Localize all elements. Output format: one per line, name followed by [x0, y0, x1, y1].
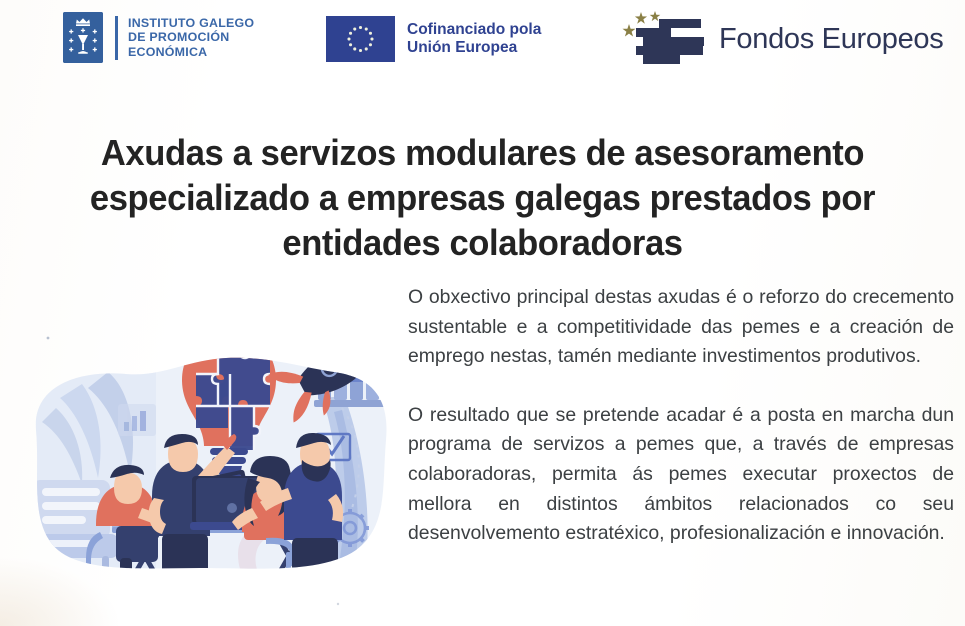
eu-line-2: Unión Europea: [407, 39, 541, 58]
team-collaboration-illustration: [4, 312, 396, 612]
igape-logo: INSTITUTO GALEGO DE PROMOCIÓN ECONÓMICA: [63, 12, 254, 63]
paragraph-2: O resultado que se pretende acadar é a p…: [408, 401, 954, 549]
igape-line-3: ECONÓMICA: [128, 45, 254, 59]
european-union-logo: Cofinanciado pola Unión Europea: [326, 16, 541, 62]
eu-flag-icon: [326, 16, 395, 62]
fondos-europeos-logo: Fondos Europeos: [617, 6, 943, 72]
body-text: O obxectivo principal destas axudas é o …: [408, 283, 954, 549]
igape-divider: [115, 16, 118, 60]
logo-bar: INSTITUTO GALEGO DE PROMOCIÓN ECONÓMICA: [0, 0, 965, 92]
poster-page: INSTITUTO GALEGO DE PROMOCIÓN ECONÓMICA: [0, 0, 965, 626]
page-title: Axudas a servizos modulares de asesorame…: [52, 130, 913, 265]
galicia-coat-of-arms-icon: [63, 12, 103, 63]
fondos-europeos-wordmark: Fondos Europeos: [719, 23, 943, 56]
paragraph-1: O obxectivo principal destas axudas é o …: [408, 283, 954, 372]
eu-line-1: Cofinanciado pola: [407, 21, 541, 40]
igape-line-1: INSTITUTO GALEGO: [128, 16, 254, 30]
igape-line-2: DE PROMOCIÓN: [128, 30, 254, 44]
fondos-europeos-mark-icon: [617, 6, 709, 72]
eu-wordmark: Cofinanciado pola Unión Europea: [407, 21, 541, 58]
igape-wordmark: INSTITUTO GALEGO DE PROMOCIÓN ECONÓMICA: [128, 16, 254, 59]
